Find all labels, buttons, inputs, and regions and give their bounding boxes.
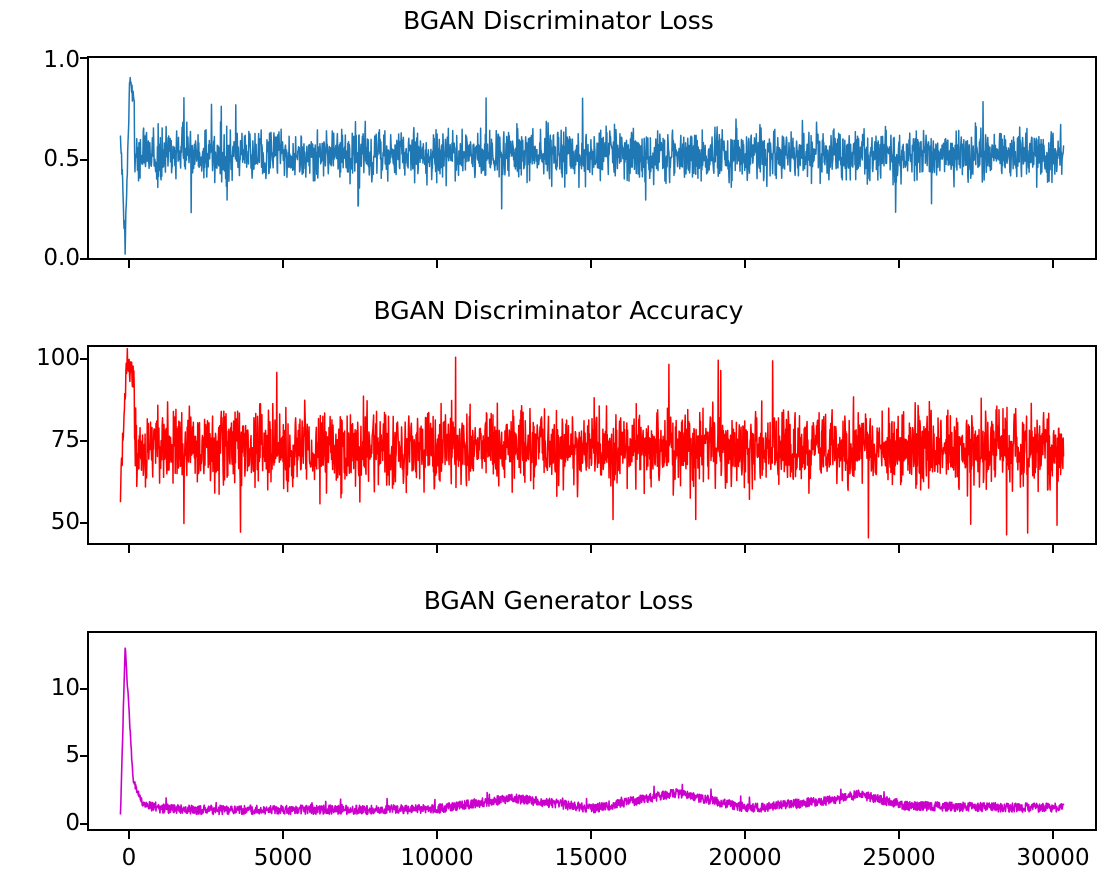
xtick-mark-0 bbox=[128, 831, 130, 839]
ytick-label-0: 50 bbox=[10, 509, 80, 535]
ytick-label-1: 5 bbox=[10, 742, 80, 768]
xtick-mark-2 bbox=[436, 831, 438, 839]
xtick-mark-s2-0 bbox=[128, 545, 130, 553]
xtick-mark-6 bbox=[1052, 831, 1054, 839]
xtick-mark-s1-5 bbox=[898, 260, 900, 268]
subplot-1-title: BGAN Discriminator Loss bbox=[0, 6, 1117, 35]
ytick-mark-2 bbox=[80, 688, 87, 690]
ytick-mark-1 bbox=[80, 440, 87, 442]
ytick-mark-0 bbox=[80, 258, 87, 260]
xtick-mark-s1-0 bbox=[128, 260, 130, 268]
xtick-label-0: 0 bbox=[49, 845, 209, 871]
ytick-mark-0 bbox=[80, 522, 87, 524]
xtick-label-5: 25000 bbox=[819, 845, 979, 871]
ytick-label-2: 100 bbox=[10, 345, 80, 371]
xtick-label-4: 20000 bbox=[665, 845, 825, 871]
xtick-mark-5 bbox=[898, 831, 900, 839]
xtick-mark-s1-3 bbox=[590, 260, 592, 268]
xtick-mark-s2-4 bbox=[744, 545, 746, 553]
discriminator-accuracy-series bbox=[89, 347, 1095, 543]
ytick-label-2: 1.0 bbox=[10, 47, 80, 73]
xtick-label-1: 5000 bbox=[203, 845, 363, 871]
ytick-label-1: 75 bbox=[10, 427, 80, 453]
xtick-mark-s1-1 bbox=[282, 260, 284, 268]
ytick-mark-0 bbox=[80, 823, 87, 825]
xtick-mark-3 bbox=[590, 831, 592, 839]
ytick-label-1: 0.5 bbox=[10, 146, 80, 172]
matplotlib-figure: BGAN Discriminator Loss 0.0 0.5 1.0 BGAN… bbox=[0, 0, 1117, 896]
plot-area-discriminator-accuracy bbox=[87, 345, 1097, 545]
xtick-mark-s1-4 bbox=[744, 260, 746, 268]
ytick-label-0: 0.0 bbox=[10, 245, 80, 271]
discriminator-loss-series bbox=[89, 58, 1095, 258]
subplot-3-title: BGAN Generator Loss bbox=[0, 586, 1117, 615]
generator-loss-series bbox=[89, 633, 1095, 829]
xtick-label-6: 30000 bbox=[973, 845, 1117, 871]
xtick-label-3: 15000 bbox=[511, 845, 671, 871]
xtick-mark-s1-6 bbox=[1052, 260, 1054, 268]
xtick-mark-s2-3 bbox=[590, 545, 592, 553]
subplot-2-title: BGAN Discriminator Accuracy bbox=[0, 296, 1117, 325]
ytick-label-0: 0 bbox=[10, 810, 80, 836]
ytick-mark-2 bbox=[80, 358, 87, 360]
xtick-mark-s2-6 bbox=[1052, 545, 1054, 553]
xtick-label-2: 10000 bbox=[357, 845, 517, 871]
xtick-mark-4 bbox=[744, 831, 746, 839]
xtick-mark-s1-2 bbox=[436, 260, 438, 268]
ytick-label-2: 10 bbox=[10, 675, 80, 701]
xtick-mark-s2-5 bbox=[898, 545, 900, 553]
ytick-mark-2 bbox=[80, 57, 87, 59]
xtick-mark-1 bbox=[282, 831, 284, 839]
xtick-mark-s2-2 bbox=[436, 545, 438, 553]
plot-area-generator-loss bbox=[87, 631, 1097, 831]
ytick-mark-1 bbox=[80, 755, 87, 757]
xtick-mark-s2-1 bbox=[282, 545, 284, 553]
ytick-mark-1 bbox=[80, 159, 87, 161]
plot-area-discriminator-loss bbox=[87, 56, 1097, 260]
